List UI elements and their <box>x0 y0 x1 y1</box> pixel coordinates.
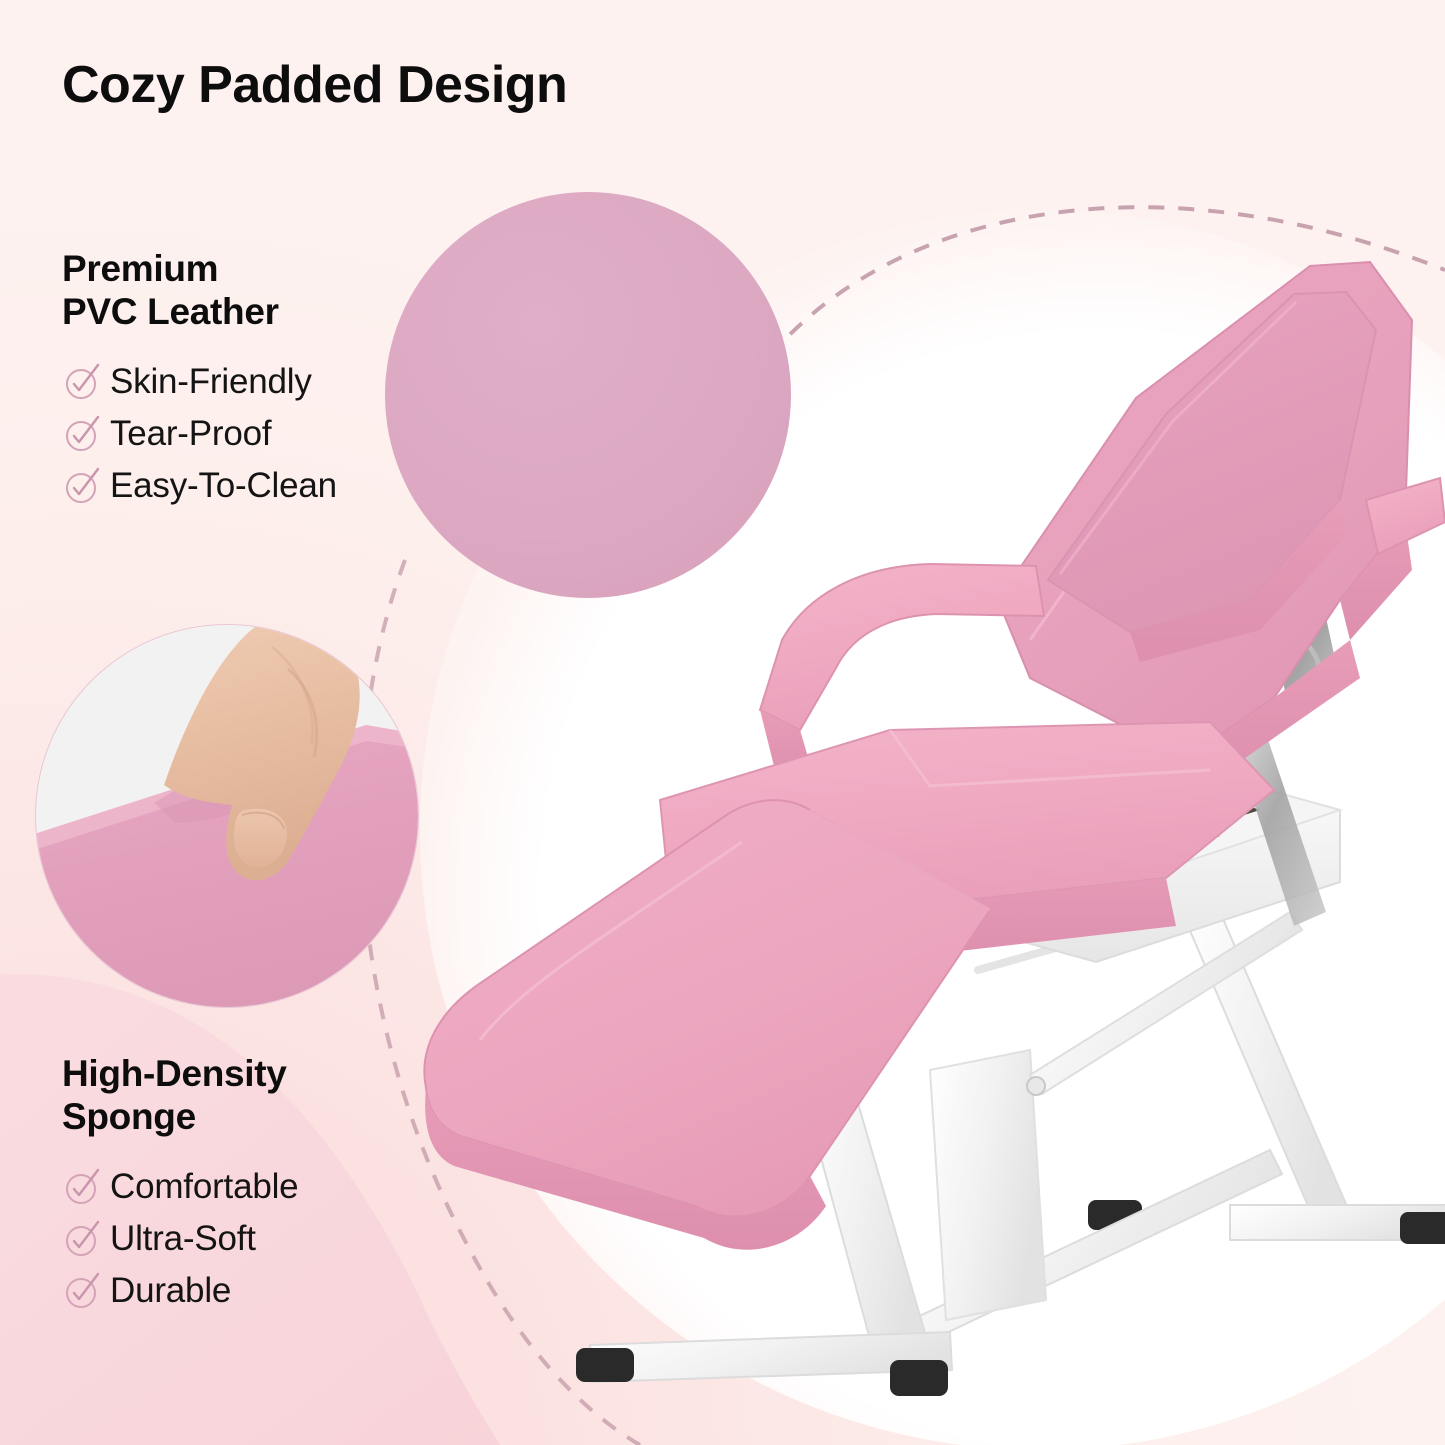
feature-title: Premium PVC Leather <box>62 248 337 334</box>
page-title: Cozy Padded Design <box>62 58 567 113</box>
list-item: Easy-To-Clean <box>62 460 337 512</box>
bullet-list: Comfortable Ultra-Soft Durable <box>62 1161 298 1317</box>
list-item-label: Easy-To-Clean <box>110 468 337 503</box>
foot-cap <box>1400 1212 1445 1244</box>
list-item: Tear-Proof <box>62 408 337 460</box>
check-circle-icon <box>62 1217 104 1259</box>
check-circle-icon <box>62 1269 104 1311</box>
list-item: Skin-Friendly <box>62 356 337 408</box>
check-circle-icon <box>62 1165 104 1207</box>
feature-block-high-density-sponge: High-Density Sponge Comfortable Ultra-So… <box>62 1053 298 1317</box>
check-circle-icon <box>62 360 104 402</box>
bullet-list: Skin-Friendly Tear-Proof Easy-To-Clean <box>62 356 337 512</box>
leg-rest <box>424 800 990 1250</box>
foot-cap <box>576 1348 634 1382</box>
list-item: Comfortable <box>62 1161 298 1213</box>
list-item: Durable <box>62 1265 298 1317</box>
list-item: Ultra-Soft <box>62 1213 298 1265</box>
check-circle-icon <box>62 412 104 454</box>
list-item-label: Durable <box>110 1273 231 1308</box>
foot-cap <box>890 1360 948 1396</box>
feature-title: High-Density Sponge <box>62 1053 298 1139</box>
feature-block-pvc-leather: Premium PVC Leather Skin-Friendly Tear-P… <box>62 248 337 512</box>
list-item-label: Skin-Friendly <box>110 364 312 399</box>
product-image-facial-bed <box>330 170 1445 1445</box>
list-item-label: Tear-Proof <box>110 416 271 451</box>
list-item-label: Comfortable <box>110 1169 298 1204</box>
list-item-label: Ultra-Soft <box>110 1221 256 1256</box>
infographic-canvas: Cozy Padded Design <box>0 0 1445 1445</box>
facial-bed-illustration <box>330 170 1445 1445</box>
check-circle-icon <box>62 464 104 506</box>
